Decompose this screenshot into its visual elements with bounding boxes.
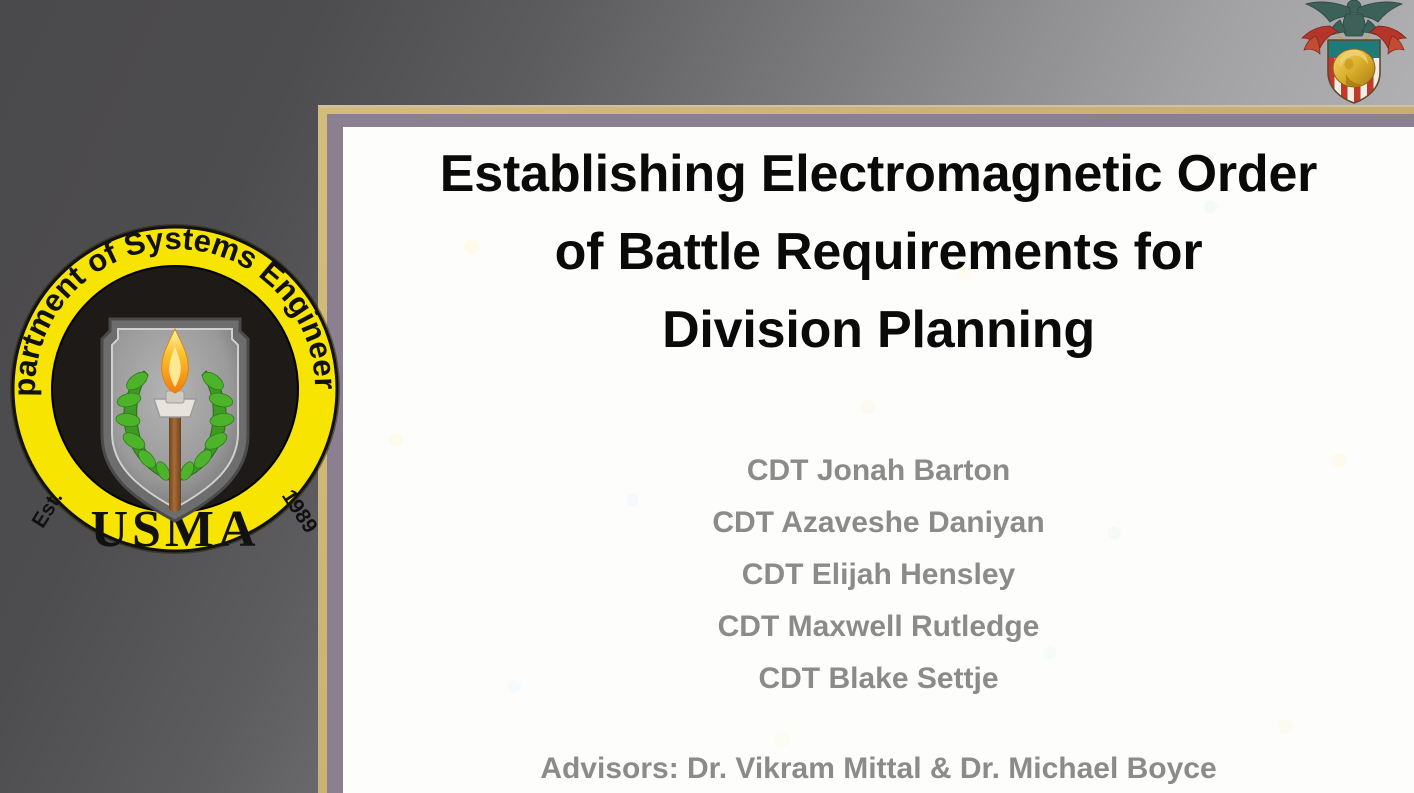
slide-content-panel: Establishing Electromagnetic Order of Ba…	[343, 127, 1414, 793]
list-item: CDT Elijah Hensley	[343, 549, 1414, 601]
dse-usma-seal-logo: Department of Systems Engineering USMA E…	[6, 203, 344, 575]
title-line-2: of Battle Requirements for	[555, 223, 1203, 281]
title-line-1: Establishing Electromagnetic Order	[440, 145, 1317, 203]
list-item: CDT Maxwell Rutledge	[343, 601, 1414, 653]
advisors-line: Advisors: Dr. Vikram Mittal & Dr. Michae…	[343, 752, 1414, 786]
usma-crest-logo	[1296, 0, 1412, 104]
title-slide: Establishing Electromagnetic Order of Ba…	[0, 0, 1414, 793]
list-item: CDT Azaveshe Daniyan	[343, 497, 1414, 549]
list-item: CDT Blake Settje	[343, 653, 1414, 705]
crest-helmet-icon	[1333, 49, 1375, 87]
author-list: CDT Jonah Barton CDT Azaveshe Daniyan CD…	[343, 445, 1414, 705]
title-line-3: Division Planning	[662, 301, 1095, 359]
list-item: CDT Jonah Barton	[343, 445, 1414, 497]
page-title: Establishing Electromagnetic Order of Ba…	[381, 135, 1376, 369]
